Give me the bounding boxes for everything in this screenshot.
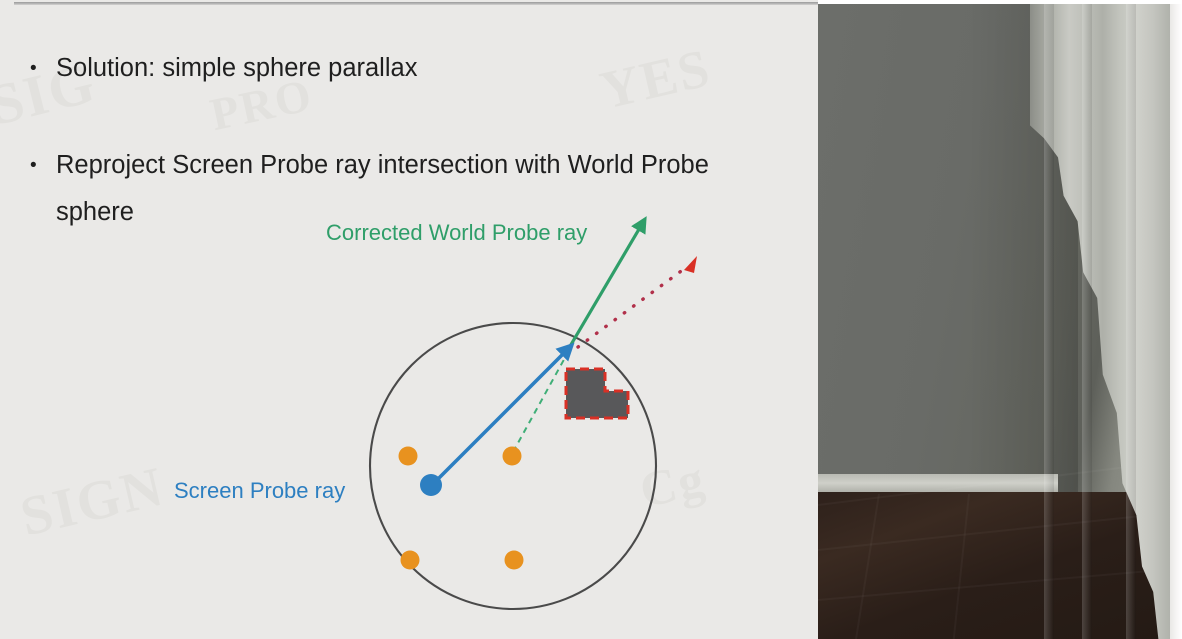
- world-probe-dot: [503, 447, 522, 466]
- curtain-fold: [1082, 4, 1092, 639]
- world-probe-dot: [401, 551, 420, 570]
- label-corrected-world-probe-ray: Corrected World Probe ray: [326, 220, 587, 246]
- webcam-video-frame: [818, 4, 1170, 639]
- curtain-fold: [1044, 4, 1054, 639]
- world-probe-dot: [399, 447, 418, 466]
- slide-area: SIG PRO YES SIGN Cg • Solution: simple s…: [0, 0, 818, 639]
- uncorrected-ray-arrowhead: [684, 256, 697, 273]
- video-top-margin: [818, 0, 1182, 4]
- presentation-screen: SIG PRO YES SIGN Cg • Solution: simple s…: [0, 0, 1182, 639]
- curtain-fold: [1126, 4, 1136, 639]
- video-right-margin: [1170, 0, 1182, 639]
- room-curtain: [1030, 4, 1170, 639]
- sphere-parallax-diagram: Corrected World Probe ray Screen Probe r…: [0, 0, 818, 639]
- world-probe-offset-line: [513, 345, 572, 452]
- world-probe-dot: [505, 551, 524, 570]
- occluder-block: [566, 369, 628, 418]
- screen-probe-ray: [433, 345, 572, 484]
- webcam-video-panel[interactable]: [818, 0, 1182, 639]
- screen-probe-origin-dot: [420, 474, 442, 496]
- label-screen-probe-ray: Screen Probe ray: [174, 478, 345, 504]
